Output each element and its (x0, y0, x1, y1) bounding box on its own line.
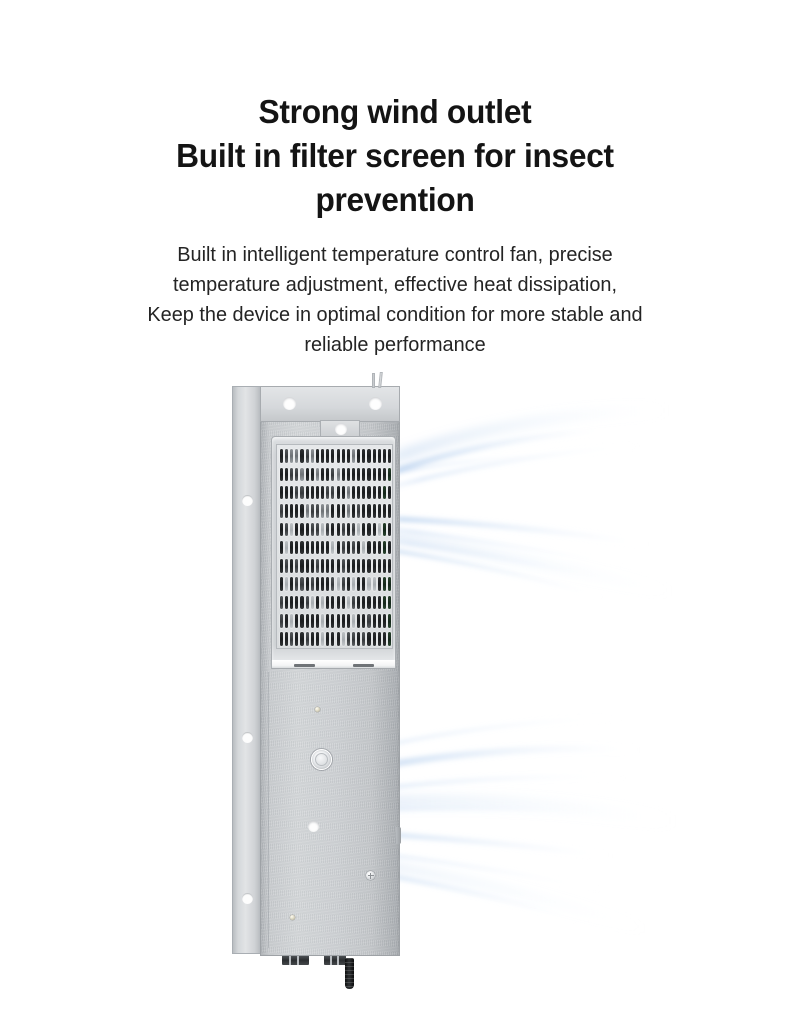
vent-slot (378, 614, 381, 628)
vent-slot (373, 486, 376, 500)
page-title: Strong wind outlet Built in filter scree… (16, 90, 774, 222)
vent-slot (285, 577, 288, 591)
grille-tab-left (294, 664, 315, 667)
vent-slot (347, 504, 350, 518)
vent-slot (367, 541, 370, 555)
vent-slot (362, 632, 365, 646)
vent-slot-grid (279, 447, 392, 648)
vent-slot (321, 504, 324, 518)
vent-slot (383, 541, 386, 555)
vent-slot (295, 523, 298, 537)
vent-slot (300, 559, 303, 573)
vent-slot (285, 523, 288, 537)
vent-slot (290, 523, 293, 537)
vent-slot (306, 486, 309, 500)
vent-slot (326, 577, 329, 591)
vent-slot (285, 632, 288, 646)
vent-slot (362, 449, 365, 463)
top-lip-hole-left (283, 397, 296, 410)
vent-slot (311, 614, 314, 628)
vent-slot (326, 541, 329, 555)
vent-slot (342, 614, 345, 628)
vent-slot (321, 632, 324, 646)
vent-slot (357, 559, 360, 573)
vent-slot (347, 614, 350, 628)
vent-slot (357, 486, 360, 500)
vent-slot (337, 596, 340, 610)
vent-slot (300, 523, 303, 537)
vent-slot (373, 596, 376, 610)
connector-pin (289, 956, 291, 965)
vent-slot (326, 504, 329, 518)
vent-slot (316, 559, 319, 573)
vent-slot (280, 486, 283, 500)
vent-slot (347, 468, 350, 482)
top-bracket (370, 372, 386, 388)
vent-slot (311, 559, 314, 573)
vent-slot (331, 449, 334, 463)
vent-slot (321, 541, 324, 555)
vent-slot (285, 596, 288, 610)
vent-slot (347, 449, 350, 463)
vent-slot (352, 468, 355, 482)
vent-slot (352, 541, 355, 555)
vent-slot (295, 468, 298, 482)
vent-slot (311, 577, 314, 591)
vent-slot (295, 541, 298, 555)
left-mounting-flange (232, 386, 262, 954)
vent-slot (311, 523, 314, 537)
vent-slot (357, 523, 360, 537)
vent-slot (290, 504, 293, 518)
vent-slot (326, 632, 329, 646)
vent-slot (383, 614, 386, 628)
vent-slot (295, 486, 298, 500)
vent-slot (280, 523, 283, 537)
vent-slot (367, 614, 370, 628)
vent-slot (352, 486, 355, 500)
vent-slot (316, 468, 319, 482)
vent-slot (306, 449, 309, 463)
screw-lower (290, 915, 295, 920)
vent-slot (331, 541, 334, 555)
subheading-description: Built in intelligent temperature control… (12, 240, 778, 360)
product-feature-page: Strong wind outlet Built in filter scree… (0, 0, 790, 1015)
vent-slot (378, 559, 381, 573)
grille-base-strip (271, 660, 396, 669)
vent-slot (373, 559, 376, 573)
vent-slot (342, 504, 345, 518)
vent-slot (367, 468, 370, 482)
vent-slot (290, 577, 293, 591)
bottom-connector-left (282, 956, 309, 965)
vent-slot (300, 596, 303, 610)
vent-slot (316, 523, 319, 537)
screw-phillips (366, 871, 375, 880)
vent-slot (347, 523, 350, 537)
round-knockout-port (311, 749, 332, 770)
headline-line-2: Built in filter screen for insect (69, 134, 722, 178)
vent-slot (280, 504, 283, 518)
vent-slot (280, 468, 283, 482)
vent-slot (347, 541, 350, 555)
vent-slot (367, 523, 370, 537)
bottom-connector-right (324, 956, 346, 965)
vent-slot (373, 577, 376, 591)
vent-slot (326, 614, 329, 628)
vent-slot (280, 596, 283, 610)
vent-slot (362, 523, 365, 537)
vent-slot (300, 504, 303, 518)
vent-slot (300, 468, 303, 482)
vent-slot (383, 504, 386, 518)
vent-slot (342, 486, 345, 500)
vent-slot (347, 486, 350, 500)
vent-slot (347, 559, 350, 573)
vent-slot (388, 577, 391, 591)
vent-slot (367, 577, 370, 591)
vent-slot (367, 449, 370, 463)
vent-slot (383, 468, 386, 482)
vent-slot (337, 468, 340, 482)
vent-slot (326, 559, 329, 573)
bracket-bar-left (372, 373, 375, 388)
vent-slot (316, 541, 319, 555)
connector-pin (330, 956, 332, 965)
vent-slot (352, 559, 355, 573)
vent-slot (331, 468, 334, 482)
vent-slot (337, 614, 340, 628)
vent-slot (347, 632, 350, 646)
vent-slot (357, 577, 360, 591)
flange-hole-2 (242, 732, 253, 743)
vent-grille-inner (276, 444, 393, 649)
vent-slot (383, 596, 386, 610)
vent-slot (326, 523, 329, 537)
vent-slot (306, 577, 309, 591)
power-cable (345, 958, 354, 989)
vent-slot (311, 504, 314, 518)
vent-slot (383, 449, 386, 463)
vent-slot (367, 559, 370, 573)
vent-slot (383, 523, 386, 537)
vent-slot (362, 614, 365, 628)
vent-slot (306, 632, 309, 646)
vent-slot (373, 504, 376, 518)
vent-slot (378, 486, 381, 500)
subcopy-line-3: Keep the device in optimal condition for… (49, 300, 742, 330)
vent-slot (285, 541, 288, 555)
vent-slot (337, 577, 340, 591)
vent-slot (352, 449, 355, 463)
vent-slot (373, 614, 376, 628)
vent-slot (321, 596, 324, 610)
vent-slot (352, 632, 355, 646)
vent-slot (378, 523, 381, 537)
vent-slot (378, 468, 381, 482)
vent-slot (378, 504, 381, 518)
vent-slot (331, 504, 334, 518)
vent-slot (311, 468, 314, 482)
vent-slot (331, 523, 334, 537)
vent-slot (290, 541, 293, 555)
vent-grille-frame (271, 436, 396, 664)
vent-slot (383, 577, 386, 591)
vent-slot (285, 468, 288, 482)
center-tab-hole (335, 423, 347, 435)
vent-slot (321, 559, 324, 573)
vent-slot (306, 523, 309, 537)
vent-slot (295, 632, 298, 646)
vent-slot (295, 577, 298, 591)
connector-pin (297, 956, 299, 965)
vent-slot (367, 632, 370, 646)
vent-slot (290, 632, 293, 646)
subcopy-line-4: reliable performance (49, 330, 742, 360)
product-scene (0, 360, 790, 1000)
vent-slot (300, 449, 303, 463)
subcopy-line-1: Built in intelligent temperature control… (49, 240, 742, 270)
vent-slot (362, 559, 365, 573)
vent-slot (357, 449, 360, 463)
flange-hole-3 (242, 893, 253, 904)
body-seam-line (268, 672, 269, 948)
vent-slot (373, 632, 376, 646)
vent-slot (321, 614, 324, 628)
vent-slot (300, 614, 303, 628)
subcopy-line-2: temperature adjustment, effective heat d… (49, 270, 742, 300)
vent-slot (306, 559, 309, 573)
vent-slot (316, 577, 319, 591)
vent-slot (367, 504, 370, 518)
vent-slot (352, 596, 355, 610)
cooling-unit-device (232, 372, 400, 957)
vent-slot (337, 632, 340, 646)
vent-slot (342, 541, 345, 555)
vent-slot (326, 486, 329, 500)
vent-slot (285, 559, 288, 573)
grille-tab-right (353, 664, 374, 667)
vent-slot (311, 541, 314, 555)
vent-slot (285, 504, 288, 518)
vent-slot (388, 614, 391, 628)
vent-slot (342, 577, 345, 591)
vent-slot (280, 449, 283, 463)
vent-slot (337, 541, 340, 555)
vent-slot (342, 596, 345, 610)
vent-slot (352, 577, 355, 591)
vent-slot (337, 559, 340, 573)
vent-slot (285, 449, 288, 463)
vent-slot (306, 468, 309, 482)
vent-slot (367, 596, 370, 610)
vent-slot (316, 614, 319, 628)
vent-slot (352, 504, 355, 518)
top-lip-hole-right (369, 397, 382, 410)
vent-slot (300, 486, 303, 500)
vent-slot (357, 614, 360, 628)
vent-slot (321, 468, 324, 482)
vent-slot (290, 559, 293, 573)
vent-slot (342, 559, 345, 573)
vent-slot (337, 449, 340, 463)
vent-slot (362, 504, 365, 518)
vent-slot (280, 632, 283, 646)
vent-slot (362, 541, 365, 555)
vent-slot (367, 486, 370, 500)
vent-slot (311, 596, 314, 610)
vent-slot (352, 614, 355, 628)
vent-slot (285, 486, 288, 500)
top-mounting-lip (260, 386, 400, 422)
vent-slot (295, 449, 298, 463)
vent-slot (378, 449, 381, 463)
vent-slot (373, 523, 376, 537)
vent-slot (326, 449, 329, 463)
screw-upper (315, 707, 320, 712)
vent-slot (388, 559, 391, 573)
vent-slot (306, 596, 309, 610)
vent-slot (326, 468, 329, 482)
vent-slot (342, 449, 345, 463)
vent-slot (311, 449, 314, 463)
vent-slot (280, 614, 283, 628)
vent-slot (362, 486, 365, 500)
vent-slot (321, 523, 324, 537)
vent-slot (357, 541, 360, 555)
mounting-hole-body (308, 821, 319, 832)
vent-slot (295, 559, 298, 573)
headline-line-1: Strong wind outlet (69, 90, 722, 134)
vent-slot (342, 468, 345, 482)
vent-slot (280, 577, 283, 591)
vent-slot (342, 632, 345, 646)
vent-slot (383, 559, 386, 573)
vent-slot (331, 632, 334, 646)
vent-slot (337, 523, 340, 537)
text-block: Strong wind outlet Built in filter scree… (0, 90, 790, 360)
vent-slot (321, 577, 324, 591)
vent-slot (357, 504, 360, 518)
vent-slot (306, 614, 309, 628)
vent-slot (311, 486, 314, 500)
vent-slot (357, 468, 360, 482)
bracket-bar-right (378, 372, 383, 388)
vent-slot (388, 632, 391, 646)
vent-slot (290, 596, 293, 610)
vent-slot (388, 504, 391, 518)
vent-slot (388, 449, 391, 463)
vent-slot (388, 596, 391, 610)
vent-slot (388, 468, 391, 482)
vent-slot (311, 632, 314, 646)
vent-slot (295, 596, 298, 610)
vent-slot (316, 504, 319, 518)
vent-slot (300, 577, 303, 591)
connector-pin (337, 956, 339, 965)
vent-slot (306, 504, 309, 518)
vent-slot (280, 541, 283, 555)
vent-slot (280, 559, 283, 573)
vent-slot (347, 577, 350, 591)
vent-slot (331, 577, 334, 591)
vent-slot (388, 486, 391, 500)
vent-slot (347, 596, 350, 610)
vent-slot (295, 614, 298, 628)
vent-slot (331, 486, 334, 500)
vent-slot (316, 632, 319, 646)
vent-slot (362, 468, 365, 482)
right-edge-notch (396, 827, 401, 844)
vent-slot (362, 596, 365, 610)
vent-slot (342, 523, 345, 537)
vent-slot (373, 541, 376, 555)
vent-slot (331, 559, 334, 573)
vent-slot (300, 541, 303, 555)
vent-slot (388, 523, 391, 537)
vent-slot (337, 504, 340, 518)
vent-slot (357, 632, 360, 646)
flange-hole-1 (242, 495, 253, 506)
vent-slot (373, 468, 376, 482)
vent-slot (362, 577, 365, 591)
vent-slot (357, 596, 360, 610)
vent-slot (290, 449, 293, 463)
vent-slot (378, 632, 381, 646)
vent-slot (316, 596, 319, 610)
vent-slot (378, 596, 381, 610)
vent-slot (290, 486, 293, 500)
vent-slot (316, 486, 319, 500)
vent-slot (383, 486, 386, 500)
vent-slot (378, 541, 381, 555)
center-mounting-tab (320, 420, 360, 437)
vent-slot (337, 486, 340, 500)
vent-slot (383, 632, 386, 646)
vent-slot (290, 614, 293, 628)
vent-slot (331, 596, 334, 610)
vent-slot (285, 614, 288, 628)
vent-slot (300, 632, 303, 646)
vent-slot (306, 541, 309, 555)
vent-slot (290, 468, 293, 482)
headline-line-3: prevention (69, 178, 722, 222)
vent-slot (326, 596, 329, 610)
vent-slot (321, 486, 324, 500)
vent-slot (316, 449, 319, 463)
vent-slot (295, 504, 298, 518)
vent-slot (373, 449, 376, 463)
vent-slot (321, 449, 324, 463)
vent-slot (378, 577, 381, 591)
vent-slot (352, 523, 355, 537)
vent-slot (331, 614, 334, 628)
vent-slot (388, 541, 391, 555)
